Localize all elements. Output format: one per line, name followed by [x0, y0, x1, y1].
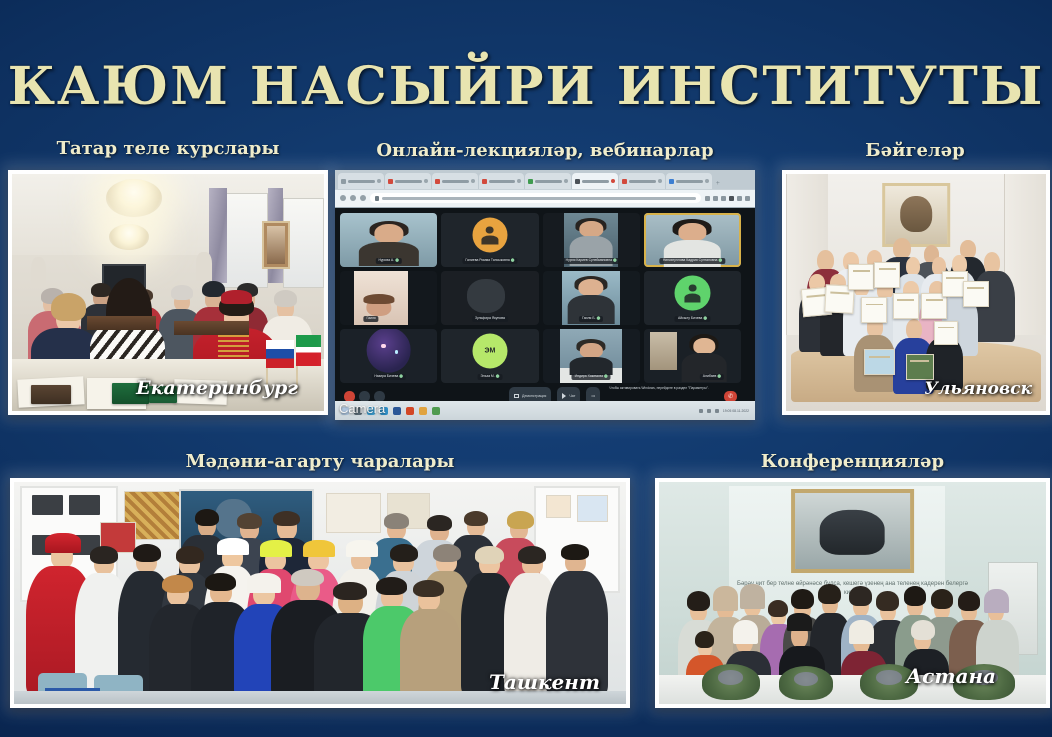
extension-icon[interactable]	[705, 196, 710, 201]
camera-watermark: Camera	[339, 401, 385, 416]
windows-taskbar: 19:05 08.11.2022	[335, 401, 755, 420]
browser-tab-strip[interactable]: +	[335, 170, 755, 189]
participant-tile[interactable]: Индира Хакимова ⬤	[543, 329, 640, 383]
participant-name: Зульфира Якупова	[472, 316, 508, 322]
section-label-courses: Татар теле курслары	[8, 138, 328, 159]
participant-tile[interactable]: Гаиля	[340, 271, 437, 325]
chrome-icon[interactable]	[432, 407, 440, 415]
photo-content-tashkent: Ташкент	[14, 482, 626, 704]
avatar-initials-text: ЭМ	[485, 348, 496, 355]
share-icon[interactable]	[713, 196, 718, 201]
portrait-kayum-nasyri	[791, 489, 915, 573]
tray-arrow-icon[interactable]	[699, 409, 703, 413]
participant-tile[interactable]: Гаиля Б. ⬤	[543, 271, 640, 325]
participant-name: Галиева Римма Тансыковна ⬤	[462, 258, 517, 264]
browser-tab[interactable]	[385, 173, 431, 189]
participant-name: Айсылу Бичева ⬤	[675, 316, 710, 322]
browser-tab[interactable]	[432, 173, 478, 189]
explorer-icon[interactable]	[419, 407, 427, 415]
section-label-cultural: Мәдәни-агарту чаралары	[10, 451, 630, 472]
participant-name: Эльза М. ⬤	[477, 374, 502, 380]
browser-tab[interactable]	[525, 173, 571, 189]
volume-icon[interactable]	[715, 409, 719, 413]
page-title: КАЮМ НАСЫЙРИ ИНСТИТУТЫ	[0, 56, 1052, 117]
browser-tab[interactable]	[338, 173, 384, 189]
participant-name: Алибаев ⬤	[700, 374, 724, 380]
avatar	[366, 329, 411, 373]
forward-icon[interactable]	[350, 195, 356, 201]
photo-ulyanovsk: Ульяновск	[782, 170, 1050, 415]
word-icon[interactable]	[393, 407, 401, 415]
clock[interactable]: 19:05 08.11.2022	[723, 409, 749, 413]
powerpoint-icon[interactable]	[406, 407, 414, 415]
participant-name: Индира Хакимова ⬤	[572, 374, 611, 380]
participant-tile-active[interactable]: Нигматуллова Кадрия Султановна ⬤	[644, 213, 741, 267]
participant-tile[interactable]: Нурова А. ⬤	[340, 213, 437, 267]
favorites-icon[interactable]	[729, 196, 734, 201]
photo-caption-ekaterinburg: Екатеринбург	[136, 377, 298, 399]
section-label-conferences: Конференцияләр	[655, 451, 1050, 472]
browser-chrome: +	[335, 170, 755, 208]
participant-tile[interactable]: ЭМ Эльза М. ⬤	[441, 329, 538, 383]
lock-icon	[375, 196, 379, 201]
participant-tile[interactable]: Галиева Римма Тансыковна ⬤	[441, 213, 538, 267]
profile-icon[interactable]	[737, 196, 742, 201]
browser-tab[interactable]	[666, 173, 712, 189]
participant-tile[interactable]: Айсылу Бичева ⬤	[644, 271, 741, 325]
back-icon[interactable]	[340, 195, 346, 201]
new-tab-icon[interactable]: +	[713, 180, 723, 189]
avatar	[675, 276, 710, 311]
participant-name: Нигматуллова Кадрия Султановна ⬤	[660, 258, 725, 264]
participant-tile[interactable]: Нурия Кариев Сулеймановна ⬤	[543, 213, 640, 267]
section-label-contests: Бәйгеләр	[780, 140, 1050, 161]
photo-caption-tashkent: Ташкент	[489, 670, 600, 694]
participant-tile[interactable]: Зульфира Якупова	[441, 271, 538, 325]
participant-grid: Нурова А. ⬤ Галиева Римма Тансыковна ⬤ Н…	[340, 213, 741, 383]
participant-name: Гаиля Б. ⬤	[579, 316, 603, 322]
browser-tab[interactable]	[619, 173, 665, 189]
photo-content-ulyanovsk: Ульяновск	[786, 174, 1046, 411]
participant-tile[interactable]: Назира Бичева ⬤	[340, 329, 437, 383]
videoconference-screenshot: +	[335, 170, 755, 420]
avatar	[472, 218, 507, 253]
poster-canvas: КАЮМ НАСЫЙРИ ИНСТИТУТЫ Татар теле курсла…	[0, 0, 1052, 737]
browser-address-bar[interactable]	[335, 190, 755, 207]
participant-name: Нурия Кариев Сулеймановна ⬤	[563, 258, 620, 264]
photo-content-astana: Бәрәү чит бер телне өйрәнәсе булса, кеше…	[659, 482, 1046, 704]
photo-online-lectures: +	[335, 170, 755, 420]
menu-icon[interactable]	[745, 196, 750, 201]
participant-name: Нурова А. ⬤	[375, 258, 401, 264]
photo-tashkent: Ташкент	[10, 478, 630, 708]
network-icon[interactable]	[707, 409, 711, 413]
participant-tile[interactable]: Алибаев ⬤	[644, 329, 741, 383]
avatar-initials: ЭМ	[472, 334, 507, 369]
photo-caption-astana: Астана	[906, 664, 996, 688]
participant-name: Назира Бичева ⬤	[371, 374, 406, 380]
photo-content-ekaterinburg: Екатеринбург	[12, 174, 324, 411]
url-input[interactable]	[370, 193, 701, 203]
photo-astana: Бәрәү чит бер телне өйрәнәсе булса, кеше…	[655, 478, 1050, 708]
browser-tab-active[interactable]	[572, 173, 618, 189]
hangup-icon[interactable]: ✆	[724, 391, 737, 402]
bookmark-star-icon[interactable]	[721, 196, 726, 201]
browser-tab[interactable]	[479, 173, 525, 189]
system-tray[interactable]: 19:05 08.11.2022	[699, 409, 749, 413]
participant-name: Гаиля	[364, 316, 379, 322]
photo-ekaterinburg: Екатеринбург	[8, 170, 328, 415]
photo-caption-ulyanovsk: Ульяновск	[924, 379, 1032, 399]
section-label-online: Онлайн-лекцияләр, вебинарлар	[335, 140, 755, 161]
portrait-kayum-nasyri	[882, 183, 950, 247]
reload-icon[interactable]	[360, 195, 366, 201]
